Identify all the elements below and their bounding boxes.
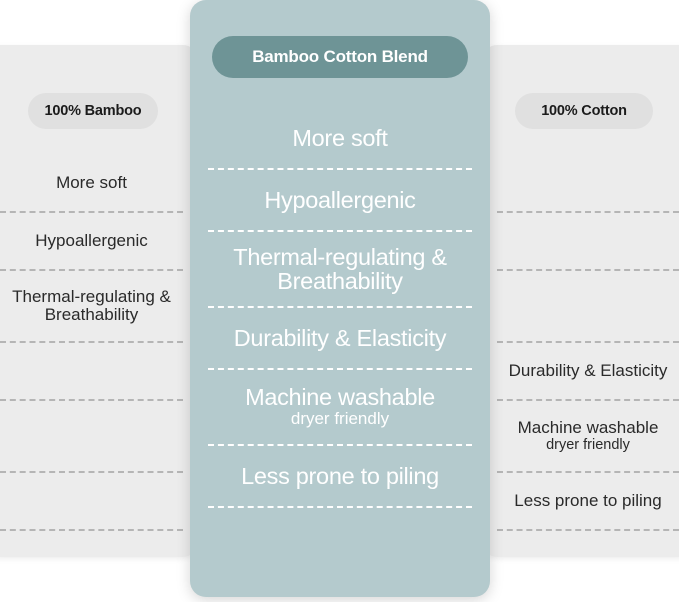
feature-row: Thermal-regulating & Breathability	[0, 271, 183, 343]
feature-row-empty	[497, 271, 679, 343]
comparison-column-cotton: 100% Cotton Durability & Elasticity Mach…	[483, 45, 679, 557]
feature-list-blend: More soft Hypoallergenic Thermal-regulat…	[190, 108, 490, 508]
feature-label: Thermal-regulating & Breathability	[0, 288, 183, 323]
feature-label: Thermal-regulating & Breathability	[208, 245, 472, 294]
feature-label: Less prone to piling	[241, 464, 439, 488]
feature-row-empty	[0, 343, 183, 401]
feature-label: Durability & Elasticity	[234, 326, 447, 350]
column-badge-cotton: 100% Cotton	[515, 93, 653, 129]
comparison-column-bamboo: 100% Bamboo More soft Hypoallergenic The…	[0, 45, 197, 557]
feature-row: More soft	[208, 108, 472, 170]
feature-row: Hypoallergenic	[0, 213, 183, 271]
feature-label: More soft	[292, 126, 387, 150]
column-badge-bamboo: 100% Bamboo	[28, 93, 158, 129]
comparison-column-blend-highlighted: Bamboo Cotton Blend More soft Hypoallerg…	[190, 0, 490, 597]
feature-label: Hypoallergenic	[264, 188, 415, 212]
feature-row-empty	[0, 473, 183, 531]
feature-row: Hypoallergenic	[208, 170, 472, 232]
feature-list-cotton: Durability & Elasticity Machine washable…	[483, 155, 679, 531]
feature-row: Less prone to piling	[208, 446, 472, 508]
feature-label: More soft	[56, 174, 127, 192]
feature-label: Less prone to piling	[514, 492, 661, 510]
column-badge-blend: Bamboo Cotton Blend	[212, 36, 468, 78]
feature-row-empty	[497, 213, 679, 271]
feature-label: Hypoallergenic	[35, 232, 147, 250]
feature-row: Machine washable dryer friendly	[497, 401, 679, 473]
feature-row: Durability & Elasticity	[497, 343, 679, 401]
feature-row: Durability & Elasticity	[208, 308, 472, 370]
feature-row: Machine washable dryer friendly	[208, 370, 472, 446]
feature-sublabel: dryer friendly	[291, 409, 389, 429]
feature-row: Thermal-regulating & Breathability	[208, 232, 472, 308]
feature-label: Machine washable	[245, 385, 435, 409]
comparison-table: 100% Bamboo More soft Hypoallergenic The…	[0, 0, 679, 602]
feature-label: Durability & Elasticity	[509, 362, 668, 380]
feature-list-bamboo: More soft Hypoallergenic Thermal-regulat…	[0, 155, 197, 531]
feature-row: More soft	[0, 155, 183, 213]
feature-label: Machine washable	[518, 419, 659, 437]
feature-sublabel: dryer friendly	[546, 437, 630, 454]
feature-row-empty	[0, 401, 183, 473]
feature-row-empty	[497, 155, 679, 213]
feature-row: Less prone to piling	[497, 473, 679, 531]
